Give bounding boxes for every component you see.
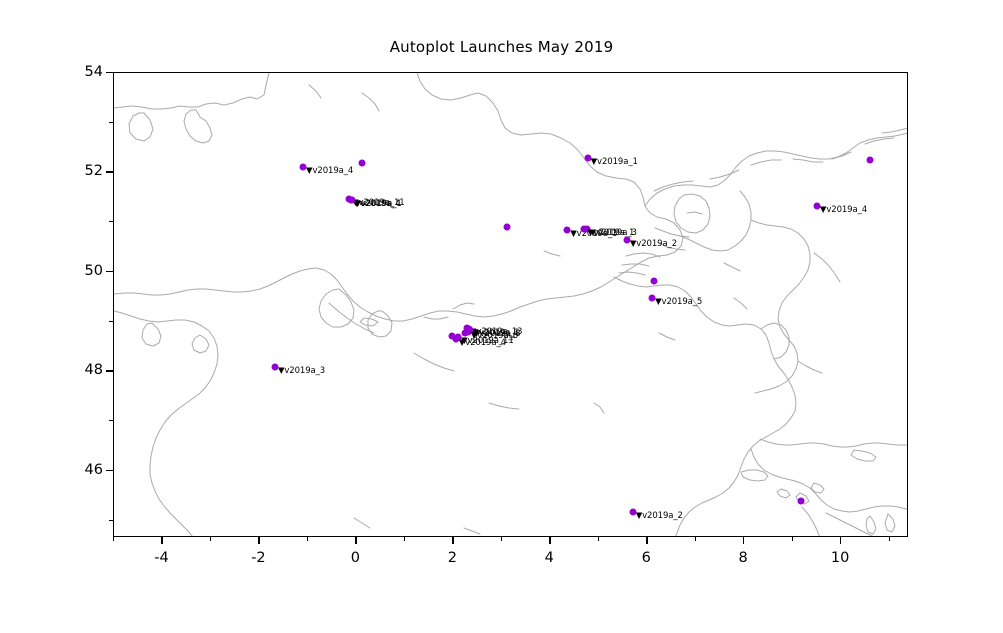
x-tick [501,537,502,541]
plot-area[interactable]: ▼v2019a_4▼v2019a_11▼v2019a_4▼v2019a_1▼v2… [113,72,908,537]
y-tick-label: 54 [65,64,103,80]
x-tick [161,537,162,544]
chart-title: Autoplot Launches May 2019 [0,38,1003,56]
y-tick [106,271,113,272]
data-point-label: ▼v2019a_5 [655,297,702,307]
y-tick [109,221,113,222]
data-point-label: ▼v2019a_2 [636,511,683,521]
x-tick [307,537,308,541]
figure-canvas: Autoplot Launches May 2019 [0,0,1003,633]
x-tick [549,537,550,544]
data-point[interactable] [797,497,804,504]
data-point-label: ▼v2019a_4 [820,205,867,215]
data-point[interactable] [650,277,657,284]
x-tick [792,537,793,541]
data-point[interactable] [503,224,510,231]
y-tick [106,470,113,471]
x-tick-label: 4 [545,550,554,566]
y-tick [109,122,113,123]
data-point-label: ▼v2019a_4 [306,166,353,176]
x-tick [695,537,696,541]
x-tick [646,537,647,544]
x-tick-label: 10 [831,550,849,566]
x-tick-label: 2 [448,550,457,566]
data-point-label: ▼v2019a_3 [278,366,325,376]
x-tick-label: -2 [251,550,265,566]
x-tick-label: 0 [351,550,360,566]
data-point-label: ▼v2019a_2 [630,239,677,249]
x-tick [210,537,211,541]
data-point-label: ▼v2019a_1 [355,199,402,209]
x-tick-label: 6 [642,550,651,566]
y-tick-label: 52 [65,163,103,179]
x-tick [355,537,356,544]
y-tick-label: 48 [65,362,103,378]
y-tick-label: 50 [65,263,103,279]
y-tick [109,321,113,322]
data-point-label: ▼v2019a_1 [591,157,638,167]
x-tick [889,537,890,541]
data-point[interactable] [867,156,874,163]
x-tick [404,537,405,541]
y-tick [106,171,113,172]
x-tick-label: 8 [739,550,748,566]
y-tick-label: 46 [65,462,103,478]
y-tick [106,370,113,371]
x-tick [258,537,259,544]
data-point[interactable] [359,159,366,166]
x-tick [598,537,599,541]
x-tick [113,537,114,541]
x-tick [743,537,744,544]
data-point-label: ▼v2019a_4 [459,338,506,348]
x-tick [452,537,453,544]
x-tick [840,537,841,544]
x-tick-label: -4 [154,550,168,566]
y-tick [109,520,113,521]
data-points-layer: ▼v2019a_4▼v2019a_11▼v2019a_4▼v2019a_1▼v2… [114,73,908,537]
y-tick [106,72,113,73]
y-tick [109,420,113,421]
